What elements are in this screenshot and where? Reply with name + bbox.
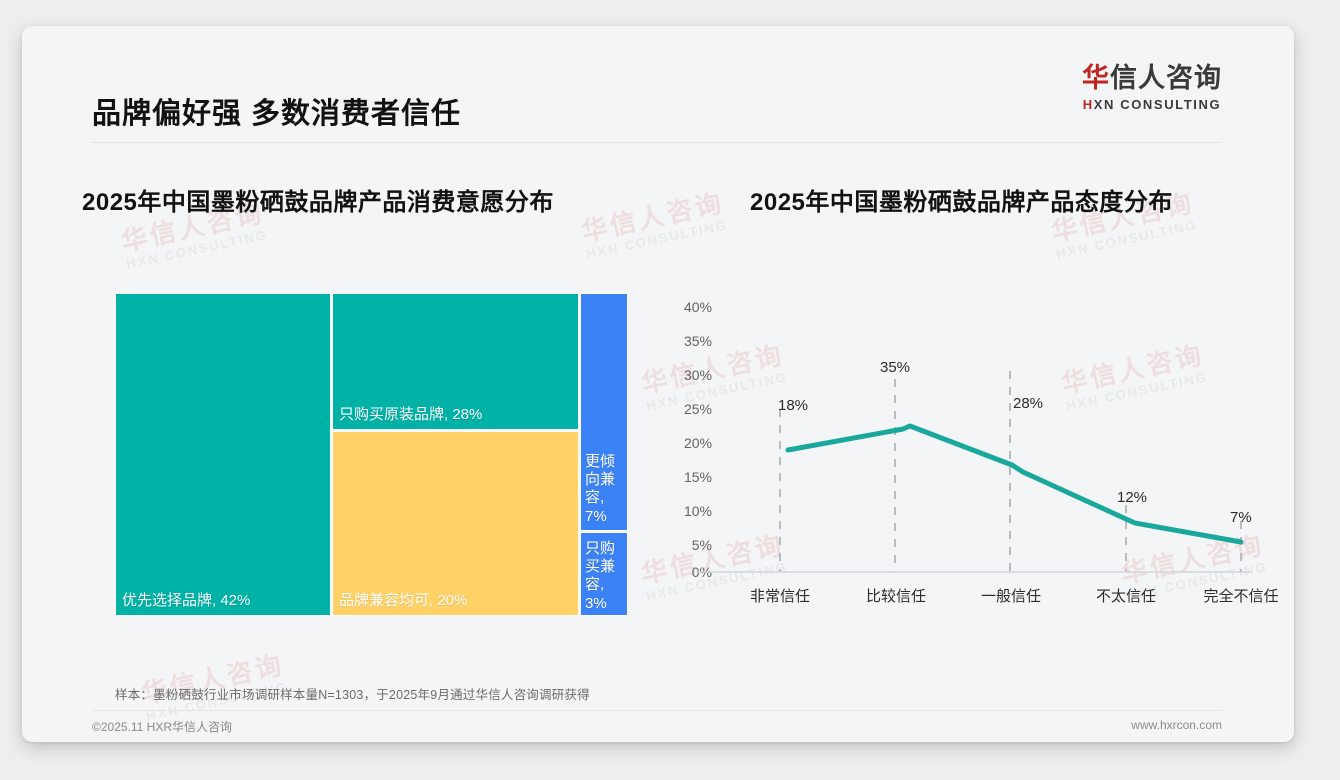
x-tick-label: 不太信任: [1061, 585, 1191, 606]
treemap-label-2: 品牌兼容均可, 20%: [339, 592, 574, 611]
slide-card: 华信人咨询 HXN CONSULTING 华信人咨询 HXN CONSULTIN…: [22, 26, 1294, 742]
page-title: 品牌偏好强 多数消费者信任: [92, 90, 461, 132]
data-label-2: 28%: [1013, 395, 1043, 412]
footer-copyright: ©2025.11 HXR华信人咨询: [92, 718, 232, 735]
data-label-3: 12%: [1117, 489, 1147, 506]
treemap-label-1: 只购买原装品牌, 28%: [339, 406, 574, 425]
logo-en-red: H: [1083, 97, 1094, 112]
right-chart-title: 2025年中国墨粉硒鼓品牌产品态度分布: [750, 182, 1173, 217]
treemap-cell-4[interactable]: 只购买兼容, 3%: [580, 532, 628, 616]
series-line: [788, 426, 1241, 542]
watermark-en: HXN CONSULTING: [585, 217, 730, 262]
logo-en-dark: XN CONSULTING: [1094, 97, 1221, 112]
logo-chinese: 华信人咨询: [1082, 64, 1222, 94]
logo-english: HXN CONSULTING: [1082, 97, 1222, 112]
watermark-en: HXN CONSULTING: [1055, 217, 1200, 262]
treemap-chart: 优先选择品牌, 42% 只购买原装品牌, 28% 品牌兼容均可, 20% 更倾向…: [93, 271, 608, 616]
data-label-4: 7%: [1230, 509, 1252, 526]
footer-divider: [92, 710, 1222, 711]
treemap-label-3: 更倾向兼容, 7%: [585, 453, 623, 526]
data-label-0: 18%: [778, 397, 808, 414]
left-chart-title: 2025年中国墨粉硒鼓品牌产品消费意愿分布: [82, 182, 554, 217]
header-divider: [92, 142, 1222, 143]
logo-cn-red: 华: [1082, 63, 1110, 93]
brand-logo: 华信人咨询 HXN CONSULTING: [1082, 64, 1222, 112]
logo-cn-dark: 信人咨询: [1110, 63, 1222, 93]
footer-url: www.hxrcon.com: [1131, 718, 1222, 732]
line-chart: 40% 35% 30% 25% 20% 15% 10% 5% 0% 18% 35: [650, 271, 1250, 616]
watermark: 华信人咨询 HXN CONSULTING: [579, 189, 730, 262]
x-tick-label: 比较信任: [831, 585, 961, 606]
treemap-cell-0[interactable]: 优先选择品牌, 42%: [115, 293, 331, 616]
treemap-cell-1[interactable]: 只购买原装品牌, 28%: [332, 293, 579, 430]
treemap-label-0: 优先选择品牌, 42%: [122, 592, 326, 611]
x-tick-label: 一般信任: [946, 585, 1076, 606]
treemap-cell-2[interactable]: 品牌兼容均可, 20%: [332, 431, 579, 616]
x-tick-label: 完全不信任: [1176, 585, 1294, 606]
data-label-1: 35%: [880, 359, 910, 376]
line-chart-svg: [650, 271, 1250, 616]
sample-note: 样本：墨粉硒鼓行业市场调研样本量N=1303，于2025年9月通过华信人咨询调研…: [115, 684, 590, 703]
watermark-cn: 华信人咨询: [579, 189, 727, 246]
x-tick-label: 非常信任: [715, 585, 845, 606]
watermark-en: HXN CONSULTING: [125, 227, 270, 272]
treemap-label-4: 只购买兼容, 3%: [585, 540, 623, 613]
treemap-cell-3[interactable]: 更倾向兼容, 7%: [580, 293, 628, 531]
